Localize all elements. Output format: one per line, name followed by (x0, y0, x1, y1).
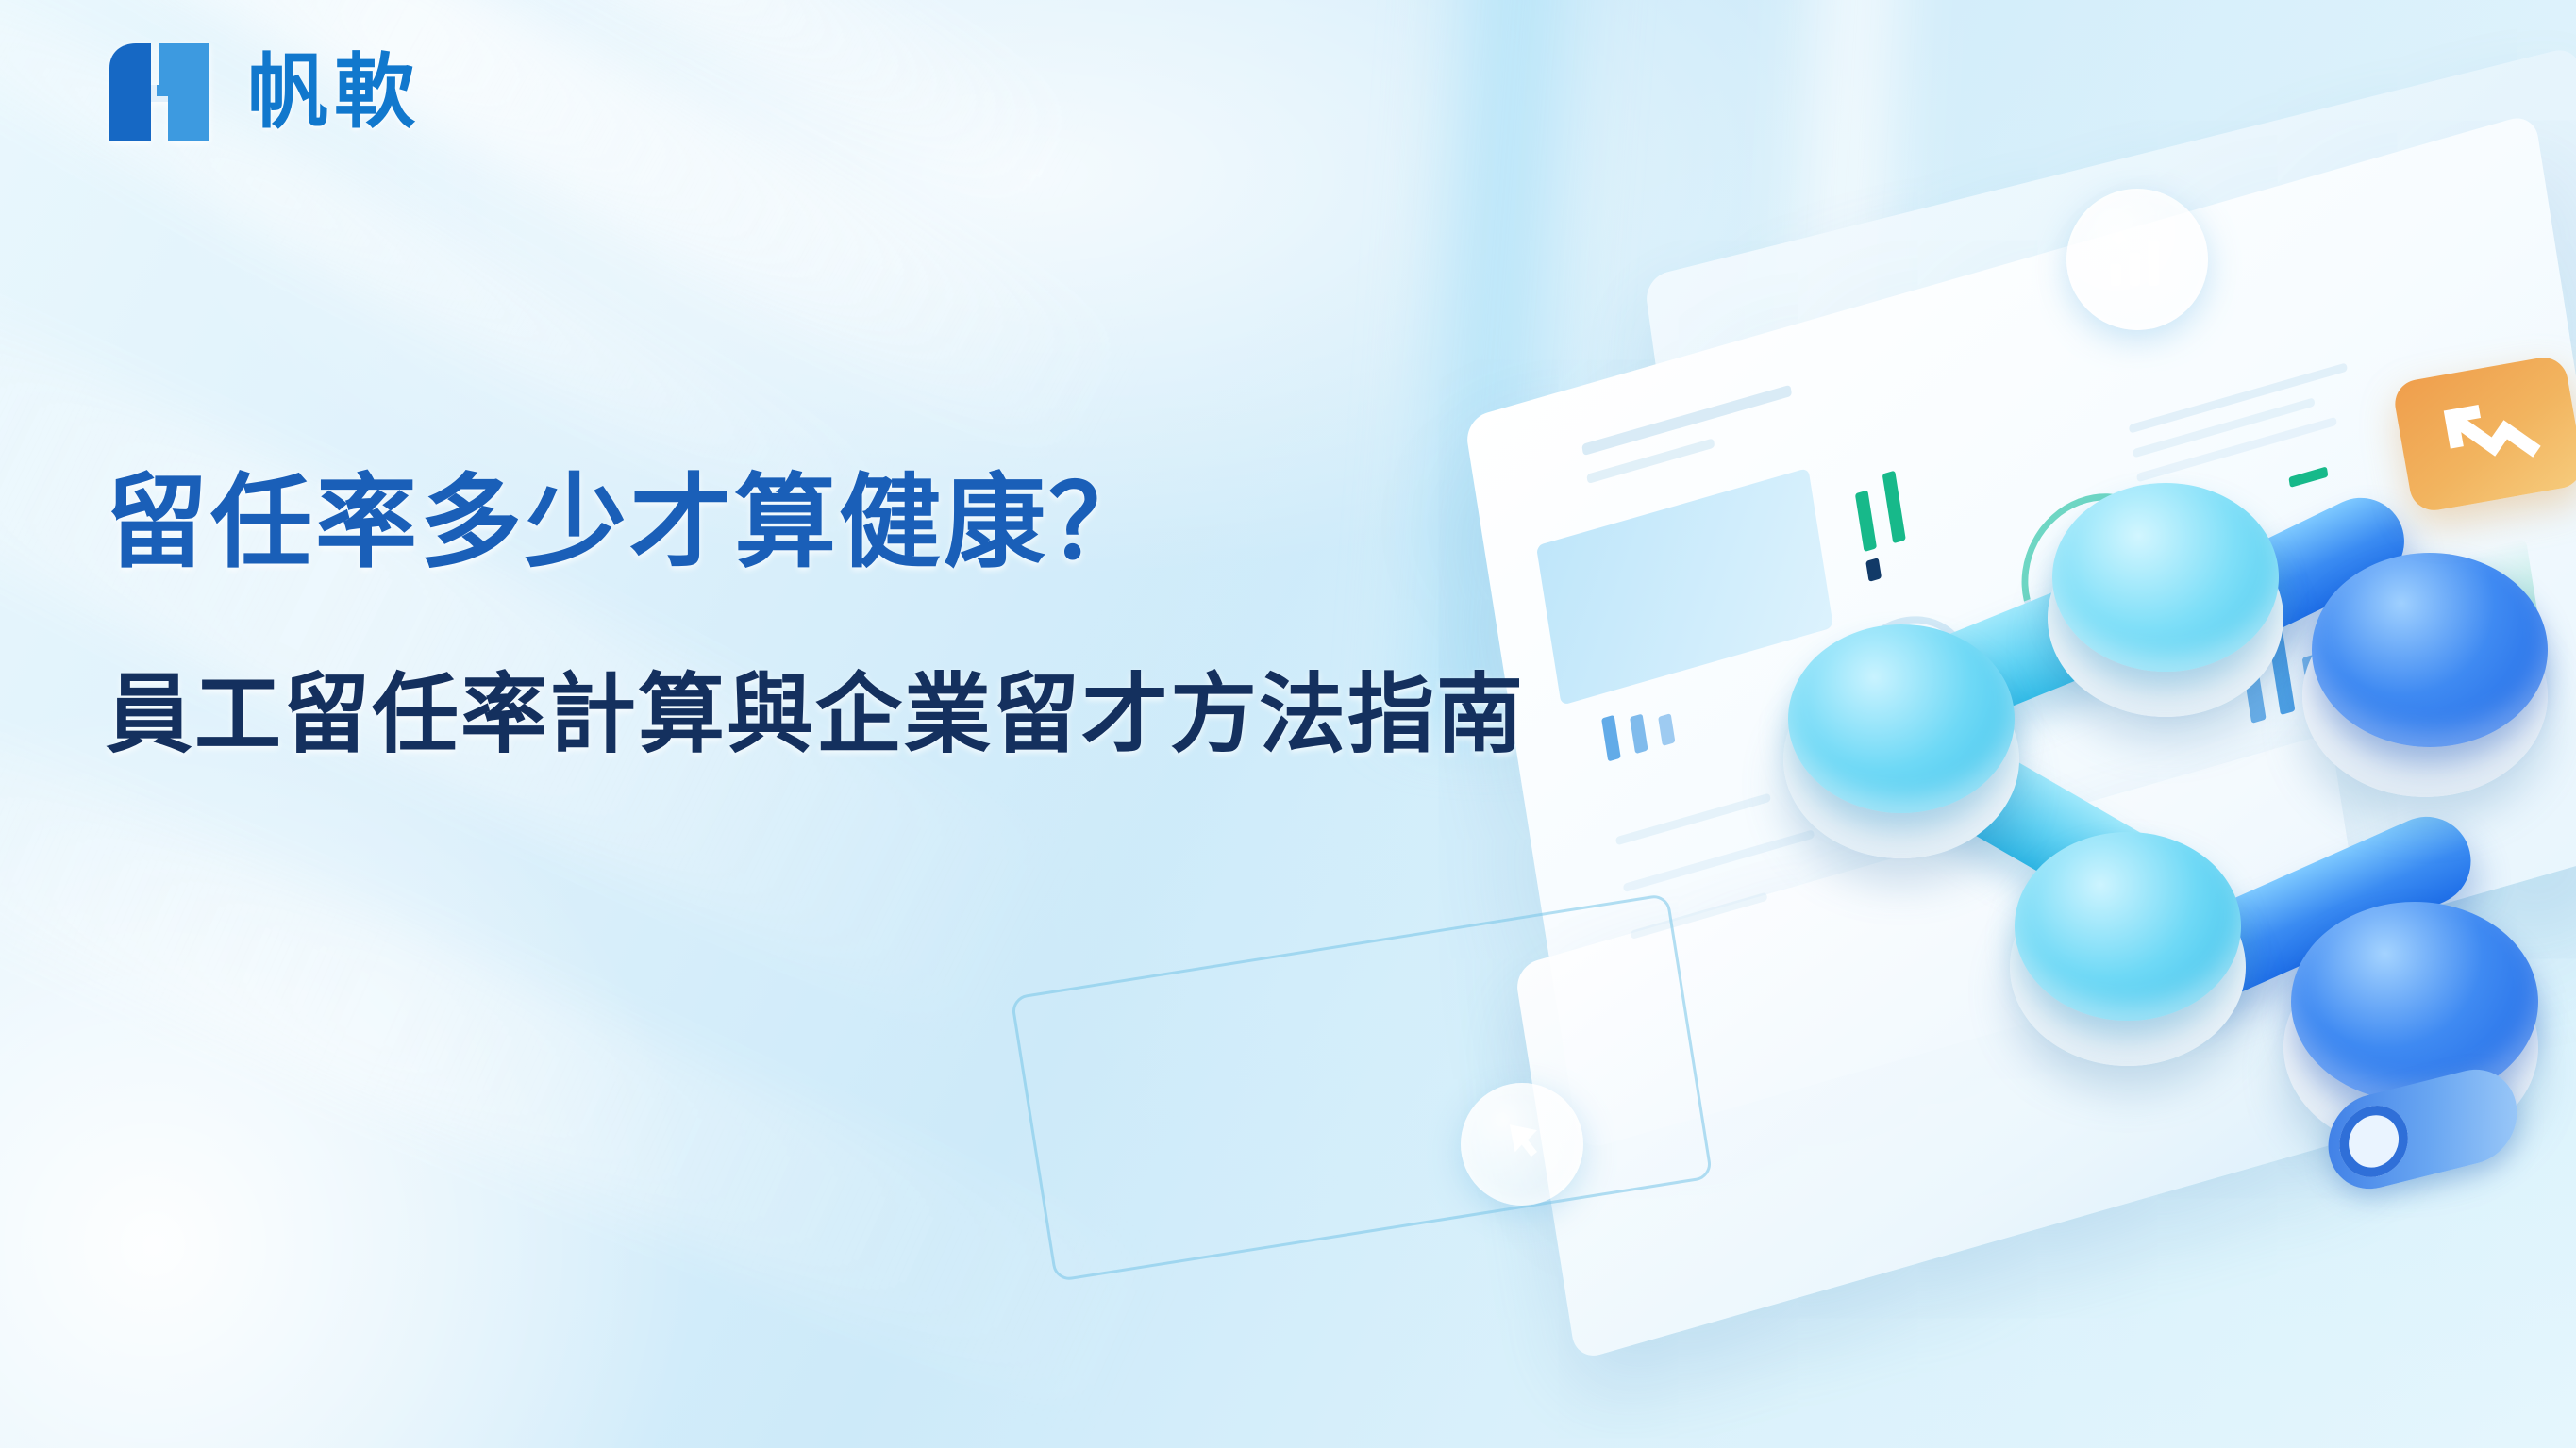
trend-up-arrow-icon (2426, 381, 2551, 486)
widget-bar (1630, 713, 1648, 754)
cursor-arrow-icon (1491, 1113, 1553, 1175)
node-blue (2312, 553, 2548, 747)
cursor-badge (1461, 1083, 1583, 1206)
bar-chart-icon (2100, 223, 2174, 296)
fanruan-f-mark-icon (104, 40, 219, 145)
node-cyan (1788, 624, 2015, 813)
page-title: 留任率多少才算健康？ (106, 462, 1615, 582)
toggle-knob (2335, 1098, 2413, 1185)
page-subtitle: 員工留任率計算與企業留才方法指南 (106, 663, 1615, 767)
brand-name: 帆軟 (247, 52, 421, 133)
brand-logo[interactable]: 帆軟 (104, 40, 421, 145)
hero-banner: 帆軟 留任率多少才算健康？ 員工留任率計算與企業留才方法指南 (0, 0, 2576, 1448)
node-cyan (2052, 483, 2279, 672)
hero-copy: 留任率多少才算健康？ 員工留任率計算與企業留才方法指南 (106, 462, 1615, 768)
node-cyan (2015, 832, 2241, 1021)
widget-bar (1658, 713, 1675, 746)
bar-chart-badge (2066, 189, 2208, 330)
node-blue (2291, 902, 2538, 1102)
